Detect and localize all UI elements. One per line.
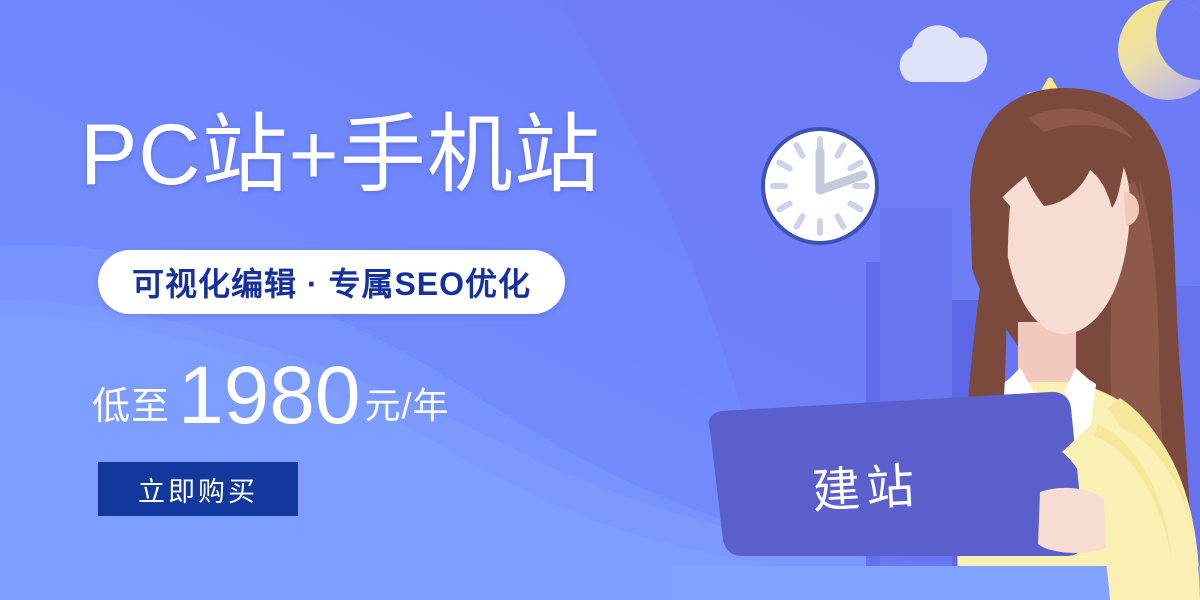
promo-banner: PC站+手机站 可视化编辑 · 专属SEO优化 低至 1980 元/年 立即购买… (0, 0, 1200, 600)
price-unit: 元/年 (364, 388, 449, 432)
laptop-screen-label: 建站 (810, 446, 922, 522)
feature-pill-label: 可视化编辑 · 专属SEO优化 (132, 259, 531, 305)
buy-now-button[interactable]: 立即购买 (98, 462, 298, 516)
page-title: PC站+手机站 (80, 112, 601, 198)
feature-pill: 可视化编辑 · 专属SEO优化 (98, 250, 565, 314)
buy-now-button-label: 立即购买 (138, 470, 258, 509)
price-prefix: 低至 (92, 388, 170, 432)
clock-icon (763, 129, 877, 243)
price-row: 低至 1980 元/年 (92, 360, 449, 432)
price-amount: 1980 (170, 360, 364, 432)
hand (1038, 488, 1106, 553)
